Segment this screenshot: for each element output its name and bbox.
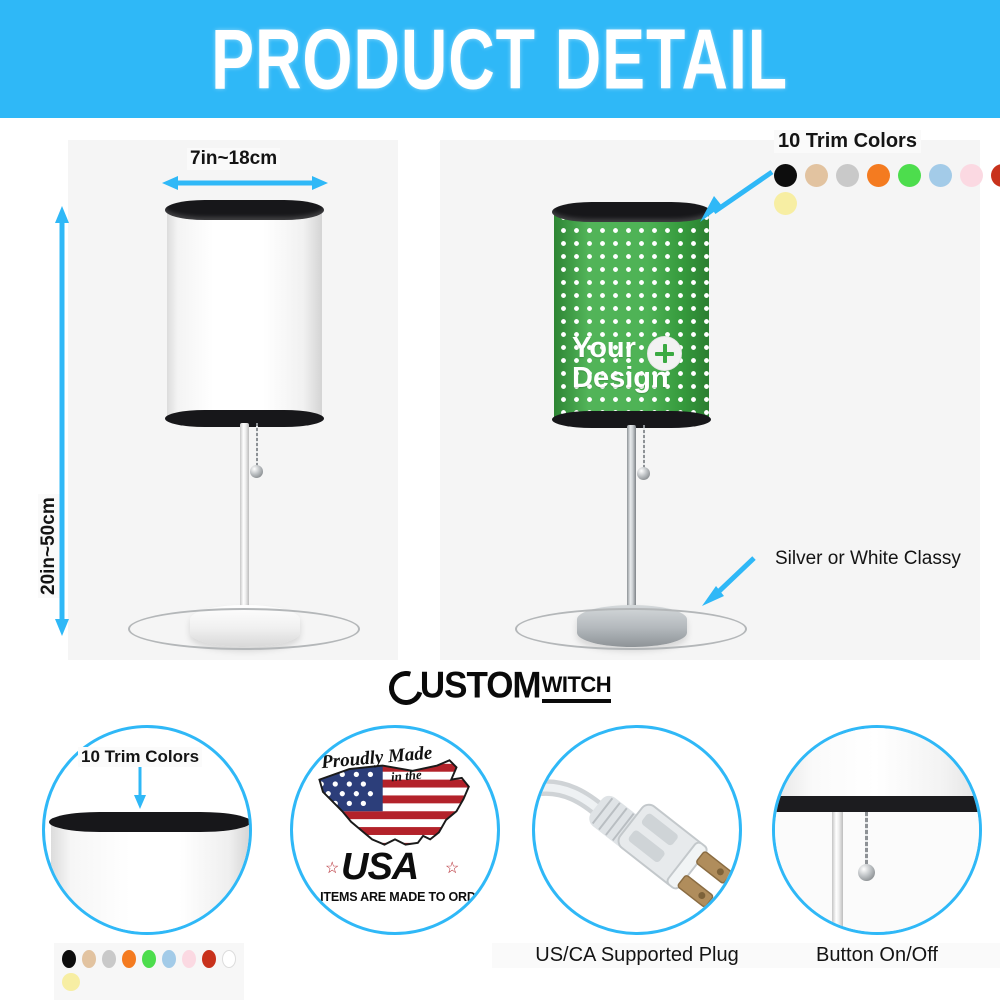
trim-colors-swatch-grid <box>774 164 1000 220</box>
trim-swatch-green[interactable] <box>898 164 921 187</box>
trim-swatch-gray[interactable] <box>836 164 859 187</box>
trim-swatch-orange[interactable] <box>867 164 890 187</box>
height-dimension-arrow <box>53 206 71 636</box>
trim-swatch-red[interactable] <box>991 164 1000 187</box>
width-dimension-label: 7in~18cm <box>187 148 280 170</box>
trim-swatch-pink[interactable] <box>960 164 983 187</box>
feature-swatch-row-1 <box>62 950 236 968</box>
usa-line-2: in the <box>390 767 422 786</box>
shade-trim-fragment-switch <box>775 796 982 812</box>
product-detail-page: PRODUCT DETAIL 7in~18cm 20in~50cm <box>0 0 1000 1000</box>
usa-badge: Proudly Made in the ☆ USA ☆ ALL ITEMS AR… <box>293 728 497 932</box>
header-banner: PRODUCT DETAIL <box>0 0 1000 118</box>
power-plug-icon <box>535 728 739 932</box>
switch-backdrop <box>775 812 982 935</box>
trim-swatch-light-blue[interactable] <box>162 950 176 968</box>
width-dimension-arrow <box>162 174 328 192</box>
usa-line-4: ALL ITEMS ARE MADE TO ORDER! <box>293 890 497 904</box>
trim-swatch-tan[interactable] <box>805 164 828 187</box>
feature-swatch-row-2 <box>62 973 236 991</box>
shade-bottom-fragment <box>775 728 982 802</box>
feature-trim-arrow <box>132 767 148 809</box>
trim-swatch-green[interactable] <box>142 950 156 968</box>
trim-swatch-light-blue[interactable] <box>929 164 952 187</box>
shade-fragment <box>51 824 249 935</box>
shade-trim-top-custom <box>552 202 711 222</box>
trim-swatch-row-1 <box>774 164 1000 187</box>
feature-trim-label: 10 Trim Colors <box>78 747 202 767</box>
trim-colors-title: 10 Trim Colors <box>774 130 921 153</box>
feature-highlights: 10 Trim Colors <box>0 715 1000 1000</box>
trim-swatch-red[interactable] <box>202 950 216 968</box>
brand-logo: USTOM WITCH <box>0 660 1000 712</box>
logo-custom-text: USTOM <box>420 665 541 707</box>
shade-trim-fragment <box>49 812 251 832</box>
pull-chain-ball-custom[interactable] <box>637 467 650 480</box>
lamp-pole-fragment <box>832 812 843 935</box>
usa-line-3: USA <box>341 846 418 889</box>
page-title: PRODUCT DETAIL <box>212 10 789 108</box>
feature-plug-caption: US/CA Supported Plug <box>492 943 782 968</box>
pull-chain-ball-fragment[interactable] <box>858 864 875 881</box>
feature-circle-plug <box>532 725 742 935</box>
trim-swatch-gray[interactable] <box>102 950 116 968</box>
trim-swatch-black[interactable] <box>62 950 76 968</box>
pull-chain-custom[interactable] <box>643 425 645 470</box>
trim-swatch-orange[interactable] <box>122 950 136 968</box>
feature-circle-switch <box>772 725 982 935</box>
usa-star-right-icon: ☆ <box>445 858 459 878</box>
feature-switch-caption: Button On/Off <box>752 943 1000 968</box>
usa-star-left-icon: ☆ <box>325 858 339 878</box>
trim-swatch-black[interactable] <box>774 164 797 187</box>
trim-swatch-row-2 <box>774 192 1000 215</box>
pull-chain[interactable] <box>256 423 258 468</box>
feature-circle-usa: Proudly Made in the ☆ USA ☆ ALL ITEMS AR… <box>290 725 500 935</box>
lamp-shade-white <box>167 206 322 421</box>
trim-swatch-white[interactable] <box>222 950 236 968</box>
logo-witch-text: WITCH <box>542 672 612 703</box>
pull-chain-ball[interactable] <box>250 465 263 478</box>
lamp-shade-custom: Your Design <box>554 208 709 423</box>
trim-swatch-yellow[interactable] <box>774 192 797 215</box>
trim-swatch-yellow[interactable] <box>62 973 80 991</box>
trim-swatch-pink[interactable] <box>182 950 196 968</box>
lamp-pole-white <box>240 423 249 618</box>
base-finish-arrow <box>700 550 768 608</box>
pull-chain-fragment[interactable] <box>865 812 868 868</box>
shade-trim-top <box>165 200 324 220</box>
feature-swatch-box <box>54 943 244 1000</box>
shade-surface <box>167 206 322 421</box>
trim-pointer-arrow <box>698 166 778 226</box>
plus-icon[interactable] <box>647 336 682 371</box>
power-cord-loop-custom <box>515 608 747 650</box>
trim-swatch-tan[interactable] <box>82 950 96 968</box>
product-showcase: 7in~18cm 20in~50cm <box>0 118 1000 658</box>
power-cord-loop <box>128 608 360 650</box>
lamp-pole-silver <box>627 425 636 618</box>
base-finish-label: Silver or White Classy <box>775 548 961 570</box>
